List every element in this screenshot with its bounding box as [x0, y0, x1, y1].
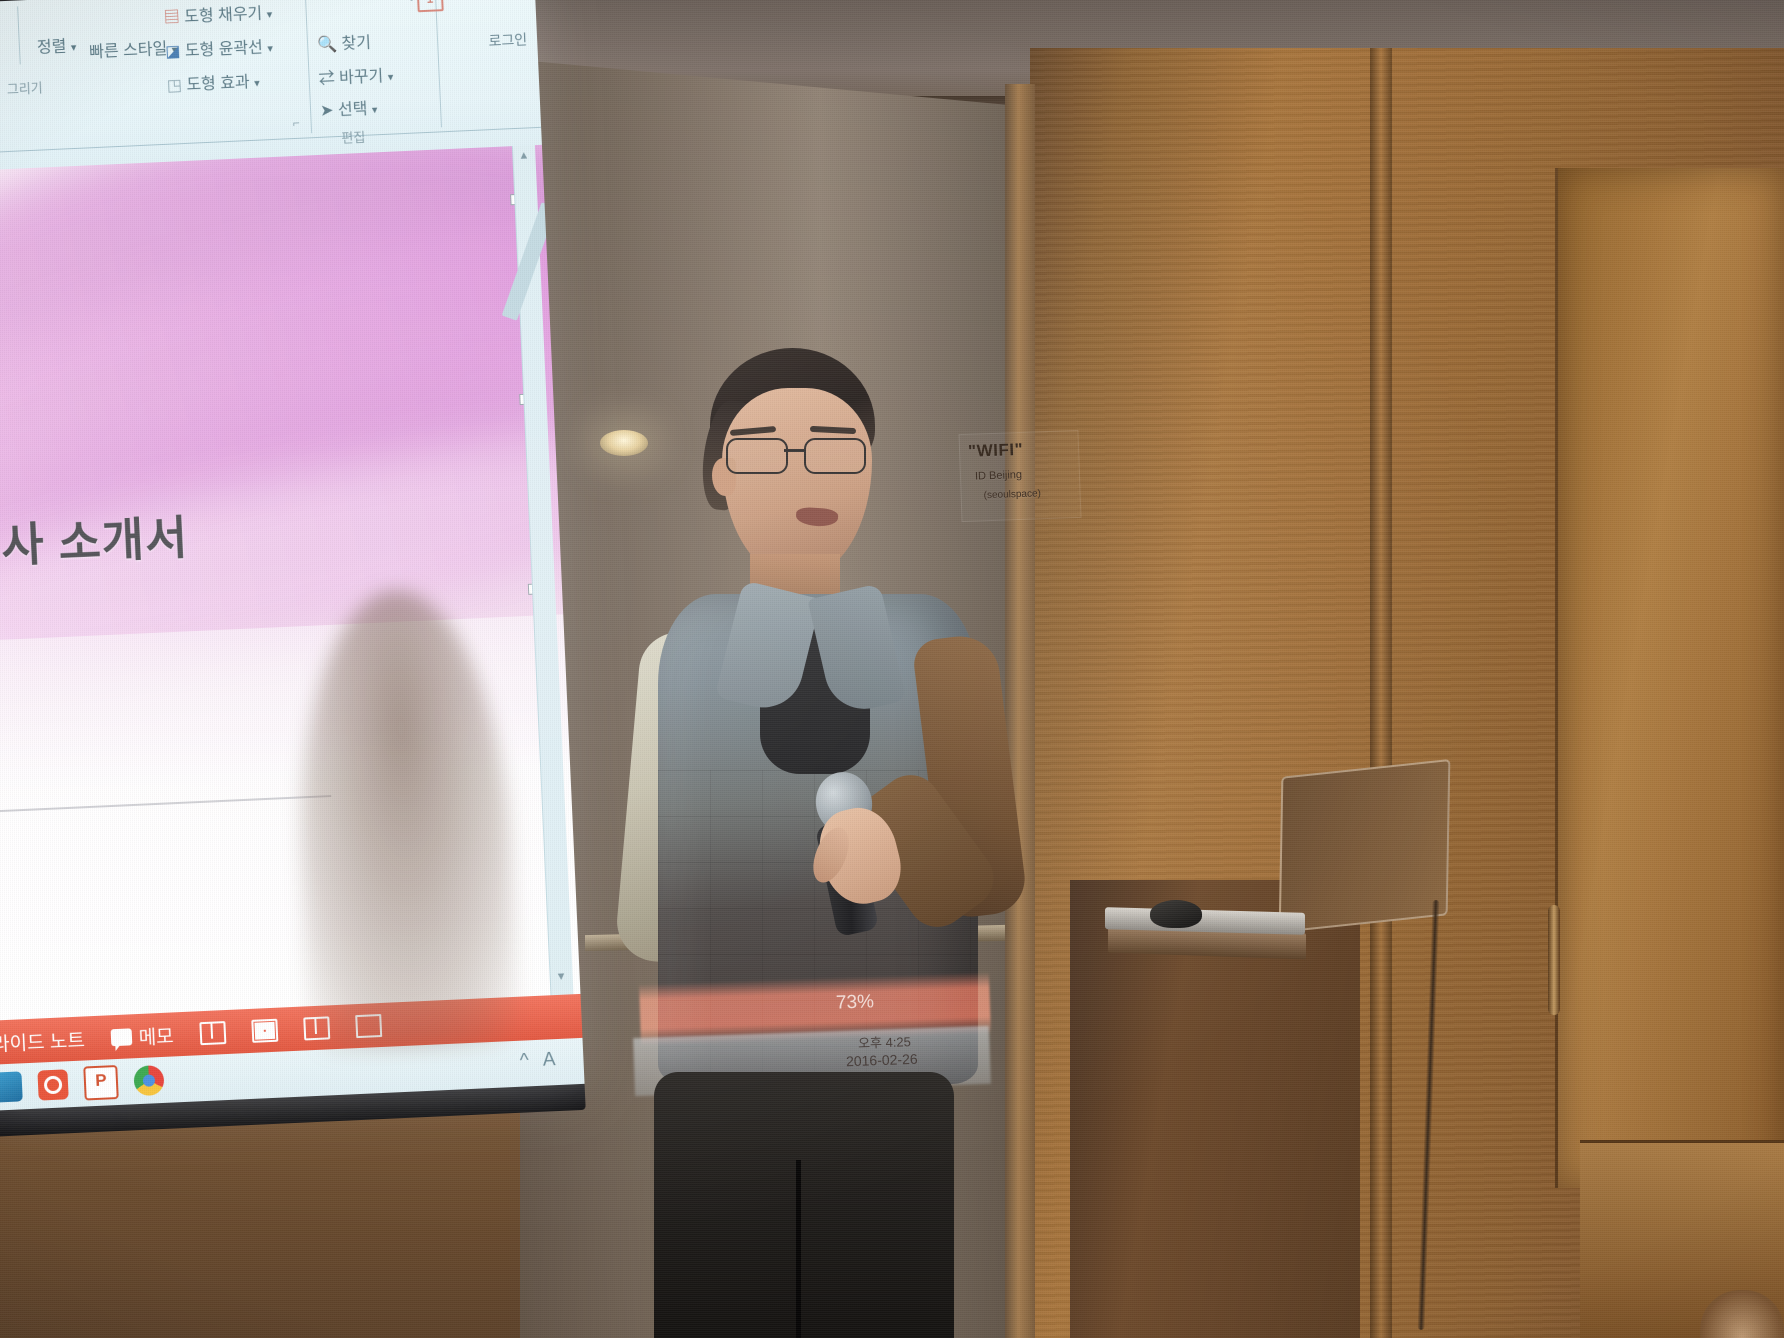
ribbon-replace-label: 바꾸기	[339, 68, 384, 87]
ribbon-group-label-drawing: 그리기	[6, 77, 43, 98]
trouser-seam	[796, 1160, 801, 1338]
view-button-slideshow[interactable]	[355, 1013, 382, 1037]
ribbon-shape-fill-label: 도형 채우기	[184, 5, 263, 26]
ribbon-quick-styles-label: 빠른 스타일	[89, 41, 168, 62]
projected-desktop: ⇨ ⇩ { } 정렬 ▾ 그리기 빠른 스타일 ▾ ▤	[0, 0, 585, 1111]
shape-outline-icon: ◪	[165, 43, 181, 61]
slide-notes-button[interactable]: 라이드 노트	[0, 1025, 85, 1056]
computer-mouse	[1150, 900, 1202, 928]
slide-sorter-icon	[251, 1018, 278, 1042]
ribbon-shape-effects-button[interactable]: ◳ 도형 효과 ▾	[166, 68, 260, 96]
projected-percent-text: 73%	[836, 991, 875, 1014]
slide-canvas[interactable]: ND) 회사 소개서	[0, 145, 580, 1021]
lens-right	[804, 438, 866, 474]
view-button-reading[interactable]	[303, 1016, 330, 1040]
photo-scene: "WIFI" ID Beijing (seoulspace) ⇨ ⇩ { } 정…	[0, 0, 1784, 1338]
door-handle[interactable]	[1548, 905, 1560, 1015]
ribbon-select-label: 선택	[338, 101, 368, 119]
ribbon-shape-outline-button[interactable]: ◪ 도형 윤곽선 ▾	[165, 33, 274, 62]
signin-label[interactable]: 로그인	[488, 29, 528, 51]
memo-button[interactable]: 메모	[110, 1021, 174, 1051]
scroll-down-arrow[interactable]: ▼	[555, 971, 566, 983]
ubuntu-icon[interactable]	[37, 1069, 68, 1100]
shape-effects-icon: ◳	[166, 77, 182, 95]
ribbon-group-label-editing: 편집	[341, 127, 366, 147]
cursor-select-icon: ➤	[320, 102, 334, 120]
ribbon-quick-styles-button[interactable]: 빠른 스타일 ▾	[89, 40, 160, 63]
ribbon-align-button[interactable]: 정렬 ▾	[36, 32, 76, 58]
trousers	[654, 1072, 954, 1338]
wood-door-panel	[1555, 168, 1784, 1188]
ribbon-shape-effects-label: 도형 효과	[186, 74, 250, 94]
lens-left	[726, 438, 788, 474]
help-icon[interactable]: ?	[406, 0, 418, 7]
ribbon-select-button[interactable]: ➤ 선택 ▾	[320, 94, 378, 121]
laptop-screen	[1279, 759, 1451, 933]
file-explorer-icon[interactable]	[0, 1071, 23, 1102]
replace-icon: ⇄	[318, 70, 335, 88]
face	[722, 388, 872, 578]
ribbon-align-label: 정렬	[37, 38, 67, 56]
window-controls[interactable]: −▫	[491, 0, 528, 5]
projected-time-text: 오후 4:25	[858, 1031, 911, 1052]
projection-screen: ⇨ ⇩ { } 정렬 ▾ 그리기 빠른 스타일 ▾ ▤	[0, 0, 586, 1143]
scroll-up-arrow[interactable]: ▲	[518, 149, 529, 161]
ribbon-dialog-launcher[interactable]: ⌐	[292, 116, 300, 130]
system-tray[interactable]: ^A	[519, 1048, 570, 1072]
wood-seam	[1370, 48, 1392, 1338]
normal-view-icon	[199, 1021, 226, 1045]
slide-lower-white-band	[0, 614, 580, 1021]
share-icon[interactable]: ↥	[417, 0, 444, 12]
chrome-icon[interactable]	[133, 1065, 164, 1096]
view-button-normal[interactable]	[199, 1021, 226, 1045]
ribbon-find-button[interactable]: 🔍 찾기	[317, 28, 372, 54]
powerpoint-ribbon: ⇨ ⇩ { } 정렬 ▾ 그리기 빠른 스타일 ▾ ▤	[0, 0, 542, 172]
projected-date-text: 2016-02-26	[846, 1051, 918, 1069]
memo-icon	[110, 1028, 132, 1046]
slideshow-icon	[355, 1013, 382, 1037]
presenter: 73% 오후 4:25 2016-02-26	[600, 330, 1030, 1338]
powerpoint-icon[interactable]: P	[83, 1065, 119, 1101]
ribbon-replace-button[interactable]: ⇄ 바꾸기 ▾	[318, 61, 394, 88]
view-button-slide-sorter[interactable]	[251, 1018, 278, 1042]
eyeglasses	[726, 438, 872, 472]
ribbon-shape-fill-button[interactable]: ▤ 도형 채우기 ▾	[163, 0, 272, 28]
reading-view-icon	[303, 1016, 330, 1040]
ribbon-shape-outline-label: 도형 윤곽선	[184, 39, 263, 60]
slide-notes-label: 라이드 노트	[0, 1025, 85, 1056]
find-icon: 🔍	[317, 36, 338, 54]
glasses-bridge	[784, 449, 804, 452]
memo-label: 메모	[138, 1021, 174, 1050]
torso: 73% 오후 4:25 2016-02-26	[610, 580, 1020, 1100]
ribbon-find-label: 찾기	[341, 34, 371, 52]
shape-fill-icon: ▤	[163, 9, 180, 27]
